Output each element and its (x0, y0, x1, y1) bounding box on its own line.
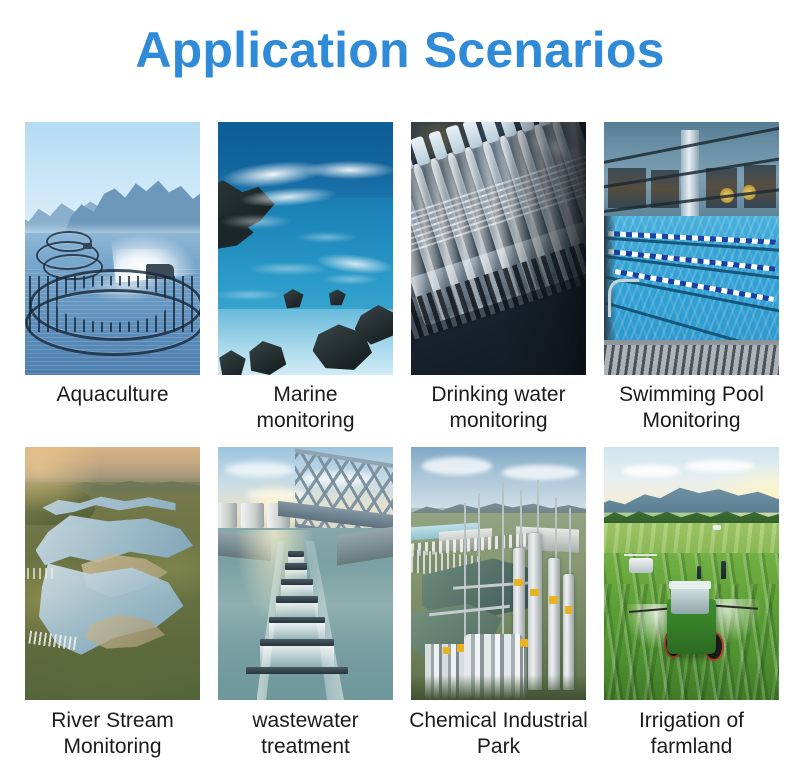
wastewater-illustration (218, 447, 393, 700)
window-panel-3 (706, 168, 738, 208)
storage-tank-2 (241, 503, 264, 528)
valve-marker-3 (549, 596, 558, 604)
scenario-caption-marine-monitoring: Marinemonitoring (211, 382, 401, 433)
drinking-water-illustration (411, 122, 586, 375)
scenario-grid-row-2: River StreamMonitoring (25, 447, 775, 759)
vent-stack-2 (478, 493, 480, 645)
scenario-card-chemical-industrial-park[interactable]: Chemical IndustrialPark (411, 447, 586, 759)
valve-marker-5 (443, 647, 450, 655)
valve-marker-6 (457, 644, 464, 652)
valve-marker-7 (520, 639, 529, 647)
fish-pen-posts (29, 276, 197, 332)
scenario-card-marine-monitoring[interactable]: Marinemonitoring (218, 122, 393, 433)
scenario-card-aquaculture[interactable]: Aquaculture (25, 122, 200, 433)
application-scenarios-page: Application Scenarios (0, 0, 800, 774)
distillation-column-3 (548, 558, 560, 690)
weir-crossbar-1 (288, 551, 304, 558)
scenario-image-aquaculture[interactable] (25, 122, 200, 375)
distillation-column-4 (563, 574, 574, 690)
scenario-caption-aquaculture: Aquaculture (18, 382, 208, 408)
depth-vignette (411, 122, 586, 375)
weir-crossbar-4 (276, 596, 318, 603)
scenario-caption-chemical-industrial-park: Chemical IndustrialPark (404, 708, 594, 759)
weir-crossbar-2 (285, 563, 308, 570)
storage-tank-1 (218, 503, 237, 528)
scenario-image-swimming-pool-monitoring[interactable] (604, 122, 779, 375)
village-far (27, 568, 55, 578)
scenario-card-drinking-water-monitoring[interactable]: Drinking watermonitoring (411, 122, 586, 433)
cloud-2 (685, 460, 755, 473)
cloud-1 (422, 457, 492, 475)
scenario-image-drinking-water-monitoring[interactable] (411, 122, 586, 375)
aquaculture-illustration (25, 122, 200, 375)
scenario-image-irrigation-of-farmland[interactable] (604, 447, 779, 700)
surf-line-2 (299, 160, 394, 180)
scenario-image-chemical-industrial-park[interactable] (411, 447, 586, 700)
scenario-caption-irrigation-of-farmland: Irrigation offarmland (597, 708, 787, 759)
page-title: Application Scenarios (0, 22, 800, 80)
golden-hour-glow (25, 447, 200, 553)
weir-overflow-6 (260, 644, 334, 669)
pool-ladder (608, 279, 639, 317)
swimming-pool-illustration (604, 122, 779, 375)
vent-stack-1 (464, 503, 466, 645)
vent-stack-3 (502, 482, 504, 649)
drone-distant (713, 525, 722, 530)
scenario-card-river-stream-monitoring[interactable]: River StreamMonitoring (25, 447, 200, 759)
weir-crossbar-6 (260, 639, 334, 646)
scenario-card-wastewater-treatment[interactable]: wastewatertreatment (218, 447, 393, 759)
distillation-column-2 (528, 533, 542, 690)
foreground-vegetation (411, 675, 586, 700)
field-worker-2 (697, 566, 701, 579)
deck-drain-grate (604, 345, 779, 375)
scenario-image-wastewater-treatment[interactable] (218, 447, 393, 700)
scenario-card-irrigation-of-farmland[interactable]: Irrigation offarmland (604, 447, 779, 759)
weir-crossbar-3 (281, 579, 313, 586)
scenario-image-marine-monitoring[interactable] (218, 122, 393, 375)
window-panel-1 (608, 168, 647, 208)
scenario-image-river-stream-monitoring[interactable] (25, 447, 200, 700)
valve-marker-4 (565, 606, 572, 614)
tractor-cab-roof (669, 581, 711, 589)
tractor-cab (671, 586, 710, 614)
chemical-park-illustration (411, 447, 586, 700)
spraying-drone (629, 558, 654, 573)
weir-crossbar-7 (246, 667, 348, 674)
scenario-caption-river-stream-monitoring: River StreamMonitoring (18, 708, 208, 759)
distant-boat (83, 243, 92, 249)
valve-marker-2 (530, 589, 539, 597)
scenario-caption-wastewater-treatment: wastewatertreatment (211, 708, 401, 759)
scenario-caption-swimming-pool-monitoring: Swimming PoolMonitoring (597, 382, 787, 433)
scenario-grid: Aquaculture (25, 122, 775, 433)
scenario-caption-drinking-water-monitoring: Drinking watermonitoring (404, 382, 594, 433)
farmland-illustration (604, 447, 779, 700)
marine-illustration (218, 122, 393, 375)
valve-marker-1 (514, 579, 523, 587)
scenario-card-swimming-pool-monitoring[interactable]: Swimming PoolMonitoring (604, 122, 779, 433)
cloud-2 (502, 465, 579, 480)
weir-crossbar-5 (269, 617, 325, 624)
field-worker-1 (721, 561, 725, 579)
river-illustration (25, 447, 200, 700)
